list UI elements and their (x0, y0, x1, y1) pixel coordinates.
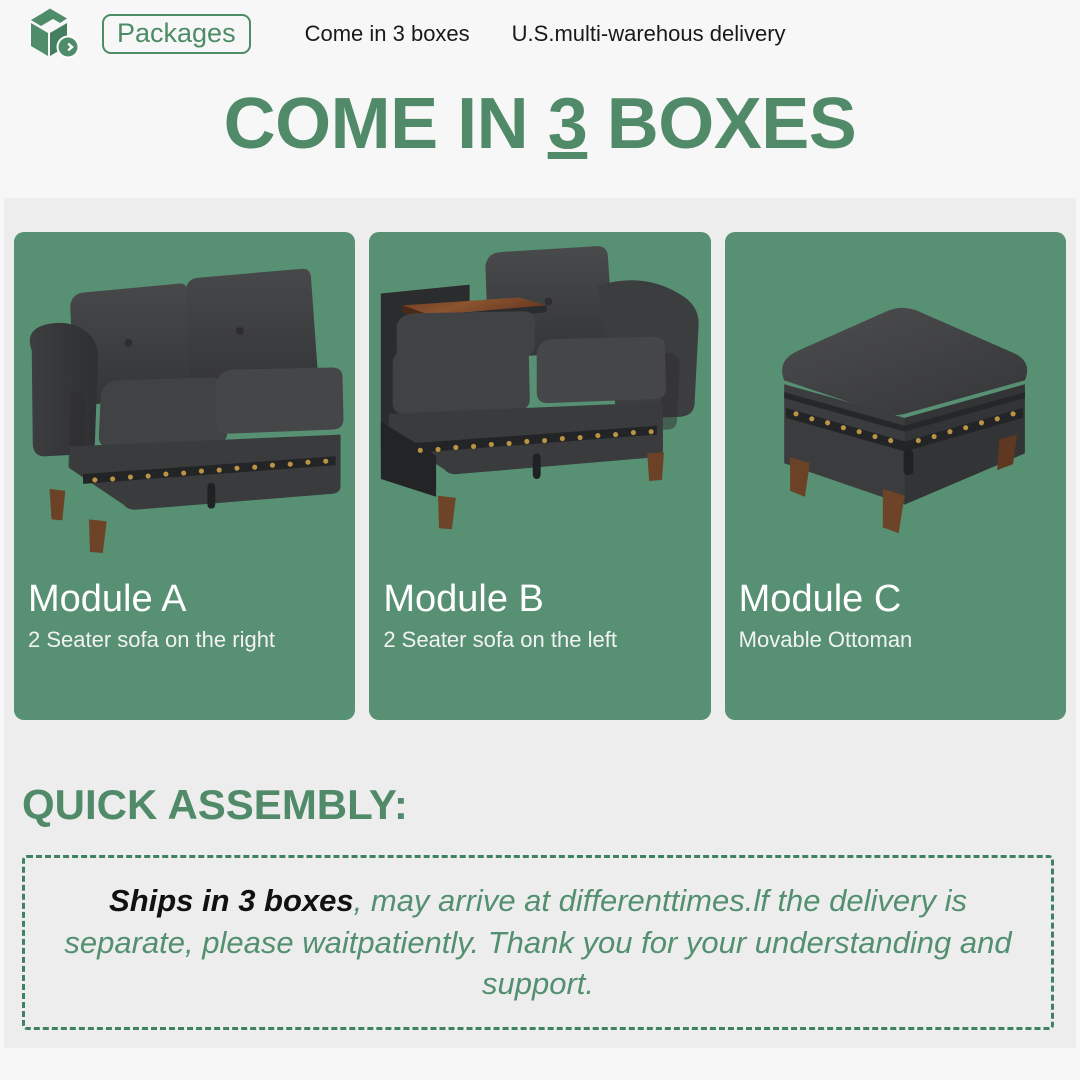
module-c-subtitle: Movable Ottoman (739, 628, 1062, 652)
module-card-a[interactable]: Module A 2 Seater sofa on the right (14, 232, 355, 720)
topbar-note-boxes: Come in 3 boxes (305, 21, 470, 47)
module-card-list: Module A 2 Seater sofa on the right (14, 232, 1066, 720)
module-card-c[interactable]: Module C Movable Ottoman (725, 232, 1066, 720)
shipping-notice-box: Ships in 3 boxes, may arrive at differen… (22, 855, 1054, 1030)
page-title-count: 3 (548, 84, 588, 164)
topbar-note-delivery: U.S.multi-warehous delivery (512, 21, 786, 47)
module-a-subtitle: 2 Seater sofa on the right (28, 628, 351, 652)
module-b-title: Module B (383, 580, 706, 618)
quick-assembly-heading: QUICK ASSEMBLY: (22, 784, 408, 826)
module-c-caption: Module C Movable Ottoman (739, 580, 1062, 652)
module-a-caption: Module A 2 Seater sofa on the right (28, 580, 351, 652)
page-title-before: COME IN (224, 84, 548, 164)
package-box-icon (24, 7, 84, 61)
top-strip: Packages Come in 3 boxes U.S.multi-wareh… (0, 0, 1080, 68)
page-title-after: BOXES (587, 84, 856, 164)
page-title: COME IN 3 BOXES (0, 88, 1080, 160)
module-b-subtitle: 2 Seater sofa on the left (383, 628, 706, 652)
shipping-notice-text: Ships in 3 boxes, may arrive at differen… (25, 880, 1051, 1006)
sofa-module-a-photo (14, 232, 355, 577)
shipping-notice-strong: Ships in 3 boxes (109, 883, 354, 918)
sofa-module-b-photo (369, 232, 710, 577)
top-bar: Packages Come in 3 boxes U.S.multi-wareh… (0, 0, 1080, 198)
module-b-caption: Module B 2 Seater sofa on the left (383, 580, 706, 652)
ottoman-module-c-photo (725, 232, 1066, 577)
module-a-title: Module A (28, 580, 351, 618)
packages-pill[interactable]: Packages (102, 14, 251, 54)
module-card-b[interactable]: Module B 2 Seater sofa on the left (369, 232, 710, 720)
module-c-title: Module C (739, 580, 1062, 618)
